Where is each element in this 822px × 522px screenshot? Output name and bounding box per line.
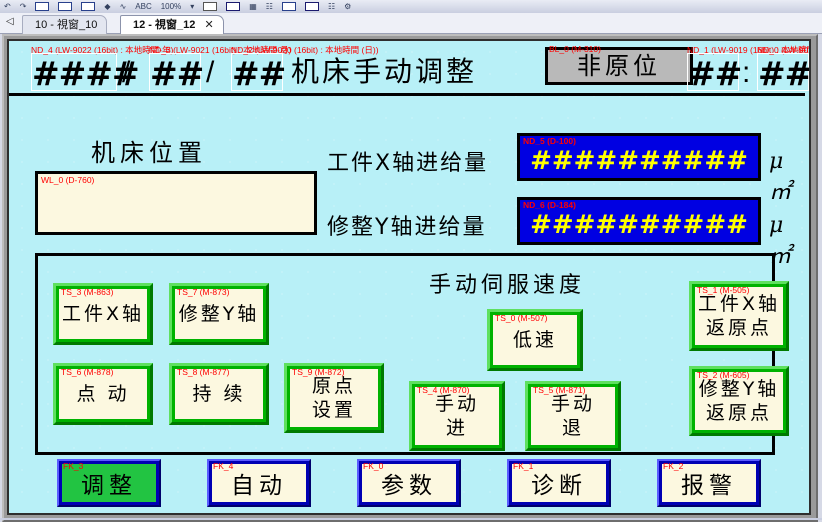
function-key-label: 自动	[231, 466, 287, 500]
machine-position-title: 机床位置	[91, 133, 207, 168]
editor-toolbar: ↶ ↷ ◆ ∿ ABC 100% ▾ ▦ ☷ ☷ ⚙	[0, 0, 822, 14]
date-separator-1: /	[122, 53, 130, 93]
group-icon[interactable]	[203, 2, 217, 11]
servo-tag: TS_4 (M-870)	[417, 386, 469, 395]
ellipse-icon[interactable]	[81, 2, 95, 11]
month-display[interactable]: ##	[149, 53, 201, 91]
servo-tag: TS_2 (M-605)	[697, 371, 749, 380]
servo-button-label-line2: 进	[446, 416, 468, 440]
servo-button-continuous[interactable]: TS_8 (M-877) 持 续	[169, 363, 269, 425]
tab-window-12[interactable]: 12 - 視窗_12 ✕	[120, 15, 224, 34]
servo-button-label: 工件X轴	[62, 302, 144, 326]
servo-tag: TS_5 (M-871)	[533, 386, 585, 395]
polygon-icon[interactable]: ◆	[104, 0, 110, 13]
servo-button-label-line2: 退	[562, 416, 584, 440]
function-key-alarm[interactable]: FK_2 报警	[657, 459, 761, 507]
feed-x-unit: μ㎡	[769, 149, 805, 206]
manual-servo-title: 手动伺服速度	[429, 267, 585, 299]
servo-tag: TS_0 (M-507)	[495, 314, 547, 323]
function-key-diagnosis[interactable]: FK_1 诊断	[507, 459, 611, 507]
servo-tag: TS_3 (M-863)	[61, 288, 113, 297]
function-key-label: 调整	[81, 466, 137, 500]
function-key-label: 参数	[381, 466, 437, 500]
application-window: ↶ ↷ ◆ ∿ ABC 100% ▾ ▦ ☷ ☷ ⚙ ◁ 10 - 視窗_10 …	[0, 0, 822, 520]
close-icon[interactable]: ✕	[204, 19, 213, 31]
settings-icon[interactable]: ⚙	[344, 0, 351, 13]
fkey-tag: FK_3	[63, 462, 83, 471]
page-title: 机床手动调整	[291, 52, 477, 92]
scale-icon[interactable]: 100%	[161, 0, 181, 13]
servo-button-label: 修整Y轴	[179, 302, 260, 326]
feed-x-tag: ND_5 (D-100)	[523, 137, 576, 146]
servo-button-dress-y[interactable]: TS_7 (M-873) 修整Y轴	[169, 283, 269, 345]
time-colon: :	[742, 53, 750, 93]
function-key-auto[interactable]: FK_4 自动	[207, 459, 311, 507]
feed-x-value-field[interactable]: ND_5 (D-100) ##########	[517, 133, 761, 181]
servo-button-low-speed[interactable]: TS_0 (M-507) 低速	[487, 309, 583, 371]
feed-y-label: 修整Y轴进给量	[327, 209, 486, 241]
layer-icon[interactable]	[305, 2, 319, 11]
servo-button-label-line1: 工件X轴	[698, 292, 780, 316]
feed-x-label: 工件X轴进给量	[327, 145, 488, 177]
servo-button-origin-set[interactable]: TS_9 (M-872) 原点 设置	[284, 363, 384, 433]
snap-icon[interactable]	[282, 2, 296, 11]
minute-display[interactable]: ##	[757, 53, 809, 91]
grid-icon[interactable]: ☷	[266, 0, 273, 13]
servo-button-label-line2: 返原点	[706, 316, 772, 340]
fkey-tag: FK_1	[513, 462, 533, 471]
servo-button-label-line1: 手动	[551, 392, 595, 416]
servo-button-label-line2: 返原点	[706, 401, 772, 425]
servo-button-label-line1: 手动	[435, 392, 479, 416]
servo-tag: TS_8 (M-877)	[177, 368, 229, 377]
header-divider	[9, 93, 805, 96]
function-key-parameters[interactable]: FK_0 参数	[357, 459, 461, 507]
rect-icon[interactable]	[35, 2, 49, 11]
function-key-label: 报警	[681, 466, 737, 500]
table-icon[interactable]: ▦	[249, 0, 257, 13]
lock-icon[interactable]: ☷	[328, 0, 335, 13]
servo-button-manual-forward[interactable]: TS_4 (M-870) 手动 进	[409, 381, 505, 451]
text-icon[interactable]: ABC	[135, 0, 151, 13]
day-display[interactable]: ##	[231, 53, 283, 91]
tab-label: 12 - 視窗_12	[133, 19, 195, 31]
servo-button-jog[interactable]: TS_6 (M-878) 点 动	[53, 363, 153, 425]
servo-tag: TS_6 (M-878)	[61, 368, 113, 377]
hmi-screen: ND_4 (LW-9022 (16bit) : 本地時間-年) #### / N…	[9, 41, 805, 509]
machine-position-tag: WL_0 (D-760)	[41, 176, 94, 185]
hmi-window-inner: ND_4 (LW-9022 (16bit) : 本地時間-年) #### / N…	[7, 39, 811, 515]
servo-button-label-line2: 设置	[312, 398, 356, 422]
window-tab-bar: ◁ 10 - 視窗_10 12 - 視窗_12 ✕	[0, 13, 822, 34]
servo-button-label-line1: 修整Y轴	[699, 377, 780, 401]
year-display[interactable]: ####	[31, 53, 117, 91]
tab-window-10[interactable]: 10 - 視窗_10	[22, 15, 107, 34]
undo-icon[interactable]: ↶	[4, 0, 11, 13]
function-key-adjust[interactable]: FK_3 调整	[57, 459, 161, 507]
servo-tag: TS_9 (M-872)	[292, 368, 344, 377]
tab-scroll-left-icon[interactable]: ◁	[6, 16, 14, 27]
line-icon[interactable]	[58, 2, 72, 11]
feed-y-tag: ND_6 (D-184)	[523, 201, 576, 210]
status-tag: BL_0 (M-310)	[549, 45, 601, 54]
servo-tag: TS_7 (M-873)	[177, 288, 229, 297]
servo-button-label: 持 续	[192, 382, 245, 406]
redo-icon[interactable]: ↷	[20, 0, 27, 13]
function-key-label: 诊断	[531, 466, 587, 500]
fkey-tag: FK_0	[363, 462, 383, 471]
servo-button-y-home[interactable]: TS_2 (M-605) 修整Y轴 返原点	[689, 366, 789, 436]
arc-icon[interactable]: ∿	[120, 0, 127, 13]
servo-button-label: 点 动	[76, 382, 129, 406]
servo-button-label-line1: 原点	[312, 374, 356, 398]
hmi-window-frame: ND_4 (LW-9022 (16bit) : 本地時間-年) #### / N…	[2, 34, 818, 522]
servo-button-x-home[interactable]: TS_1 (M-505) 工件X轴 返原点	[689, 281, 789, 351]
servo-button-workpiece-x[interactable]: TS_3 (M-863) 工件X轴	[53, 283, 153, 345]
feed-x-value: ##########	[520, 142, 758, 180]
tab-label: 10 - 視窗_10	[35, 19, 97, 31]
align-icon[interactable]	[226, 2, 240, 11]
chevron-down-icon[interactable]: ▾	[190, 0, 194, 13]
servo-button-manual-reverse[interactable]: TS_5 (M-871) 手动 退	[525, 381, 621, 451]
machine-position-field[interactable]: WL_0 (D-760)	[35, 171, 317, 235]
servo-tag: TS_1 (M-505)	[697, 286, 749, 295]
feed-y-value: ##########	[520, 206, 758, 244]
header-bar: ND_4 (LW-9022 (16bit) : 本地時間-年) #### / N…	[9, 41, 805, 93]
feed-y-value-field[interactable]: ND_6 (D-184) ##########	[517, 197, 761, 245]
hour-display[interactable]: ##	[687, 53, 739, 91]
servo-button-label: 低速	[513, 328, 557, 352]
fkey-tag: FK_2	[663, 462, 683, 471]
fkey-tag: FK_4	[213, 462, 233, 471]
date-separator-2: /	[206, 53, 214, 93]
